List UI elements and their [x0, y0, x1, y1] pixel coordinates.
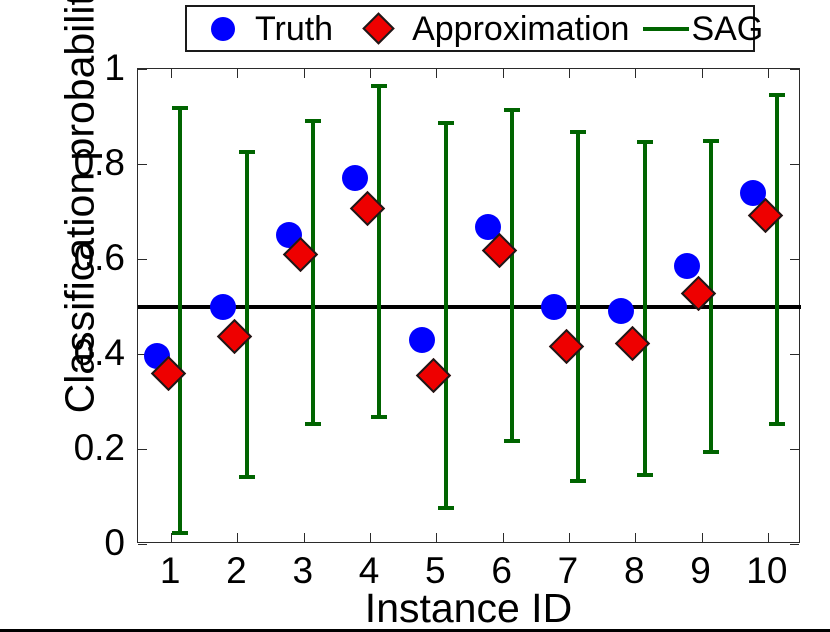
- errorbar-cap-lower: [504, 439, 520, 443]
- y-axis-tick: [138, 544, 147, 545]
- errorbar-cap-upper: [703, 139, 719, 143]
- y-axis-tick: [790, 164, 799, 165]
- y-axis-tick: [790, 449, 799, 450]
- x-axis-tick: [503, 533, 504, 542]
- errorbar-cap-lower: [438, 506, 454, 510]
- errorbar-cap-upper: [769, 93, 785, 97]
- errorbar-sag: [643, 140, 647, 476]
- y-axis-tick-label: 1: [55, 49, 125, 86]
- x-axis-tick: [702, 69, 703, 78]
- x-axis-tick: [304, 533, 305, 542]
- legend-entry-sag: SAG: [643, 7, 763, 50]
- y-axis-tick: [138, 259, 147, 260]
- x-axis-tick: [436, 69, 437, 78]
- x-axis-tick: [370, 533, 371, 542]
- errorbar-sag: [311, 119, 315, 426]
- x-axis-tick: [237, 69, 238, 78]
- x-axis-tick: [569, 69, 570, 78]
- x-axis-tick: [635, 533, 636, 542]
- errorbar-sag: [377, 84, 381, 419]
- errorbar-cap-upper: [570, 130, 586, 134]
- x-axis-tick: [304, 69, 305, 78]
- y-axis-tick-label: 0.4: [55, 334, 125, 371]
- errorbar-sag: [444, 121, 448, 510]
- legend-label-sag: SAG: [691, 12, 763, 46]
- truth-marker: [674, 253, 700, 279]
- errorbar-cap-upper: [172, 106, 188, 110]
- y-axis-tick: [138, 164, 147, 165]
- legend-entry-approximation: Approximation: [367, 7, 629, 50]
- y-axis-tick: [138, 449, 147, 450]
- x-axis-tick: [370, 69, 371, 78]
- y-axis-tick-label: 0.2: [55, 429, 125, 466]
- errorbar-cap-lower: [570, 479, 586, 483]
- legend-label-truth: Truth: [255, 12, 333, 46]
- errorbar-cap-lower: [371, 415, 387, 419]
- errorbar-cap-upper: [504, 108, 520, 112]
- x-axis-tick: [237, 533, 238, 542]
- filled-diamond-icon: [362, 12, 395, 45]
- x-axis-tick: [635, 69, 636, 78]
- errorbar-cap-lower: [172, 531, 188, 535]
- legend-entry-truth: Truth: [211, 7, 333, 50]
- plot-area: [137, 68, 800, 543]
- errorbar-cap-upper: [438, 121, 454, 125]
- chart-page: Truth Approximation SAG Classification p…: [0, 0, 830, 632]
- y-axis-tick-label: 0.6: [55, 239, 125, 276]
- errorbar-cap-upper: [305, 119, 321, 123]
- x-axis-tick: [436, 533, 437, 542]
- y-axis-tick-label: 0: [55, 524, 125, 561]
- legend-label-approximation: Approximation: [412, 12, 629, 46]
- errorbar-sag: [775, 93, 779, 426]
- truth-marker: [409, 327, 435, 353]
- x-axis-tick: [768, 533, 769, 542]
- errorbar-cap-lower: [239, 475, 255, 479]
- truth-marker: [608, 298, 634, 324]
- errorbar-cap-lower: [703, 450, 719, 454]
- x-axis-title: Instance ID: [137, 585, 800, 632]
- x-axis-tick: [702, 533, 703, 542]
- x-axis-tick: [569, 533, 570, 542]
- x-axis-tick: [503, 69, 504, 78]
- line-segment-icon: [643, 27, 689, 31]
- errorbar-sag: [178, 106, 182, 534]
- x-axis-tick-label: 10: [727, 552, 807, 589]
- x-axis-tick: [768, 69, 769, 78]
- y-axis-tick: [790, 259, 799, 260]
- truth-marker: [342, 165, 368, 191]
- x-axis-tick: [171, 69, 172, 78]
- errorbar-cap-lower: [637, 473, 653, 477]
- y-axis-tick: [790, 354, 799, 355]
- errorbar-cap-upper: [371, 84, 387, 88]
- errorbar-cap-upper: [637, 140, 653, 144]
- truth-marker: [210, 294, 236, 320]
- y-axis-tick-label: 0.8: [55, 144, 125, 181]
- y-axis-tick: [790, 544, 799, 545]
- errorbar-cap-lower: [305, 422, 321, 426]
- filled-circle-icon: [211, 17, 235, 41]
- errorbar-cap-lower: [769, 422, 785, 426]
- chart-legend: Truth Approximation SAG: [185, 5, 755, 52]
- errorbar-sag: [245, 150, 249, 479]
- errorbar-cap-upper: [239, 150, 255, 154]
- y-axis-tick: [790, 69, 799, 70]
- errorbar-sag: [510, 108, 514, 443]
- y-axis-tick: [138, 69, 147, 70]
- errorbar-sag: [576, 130, 580, 483]
- truth-marker: [541, 294, 567, 320]
